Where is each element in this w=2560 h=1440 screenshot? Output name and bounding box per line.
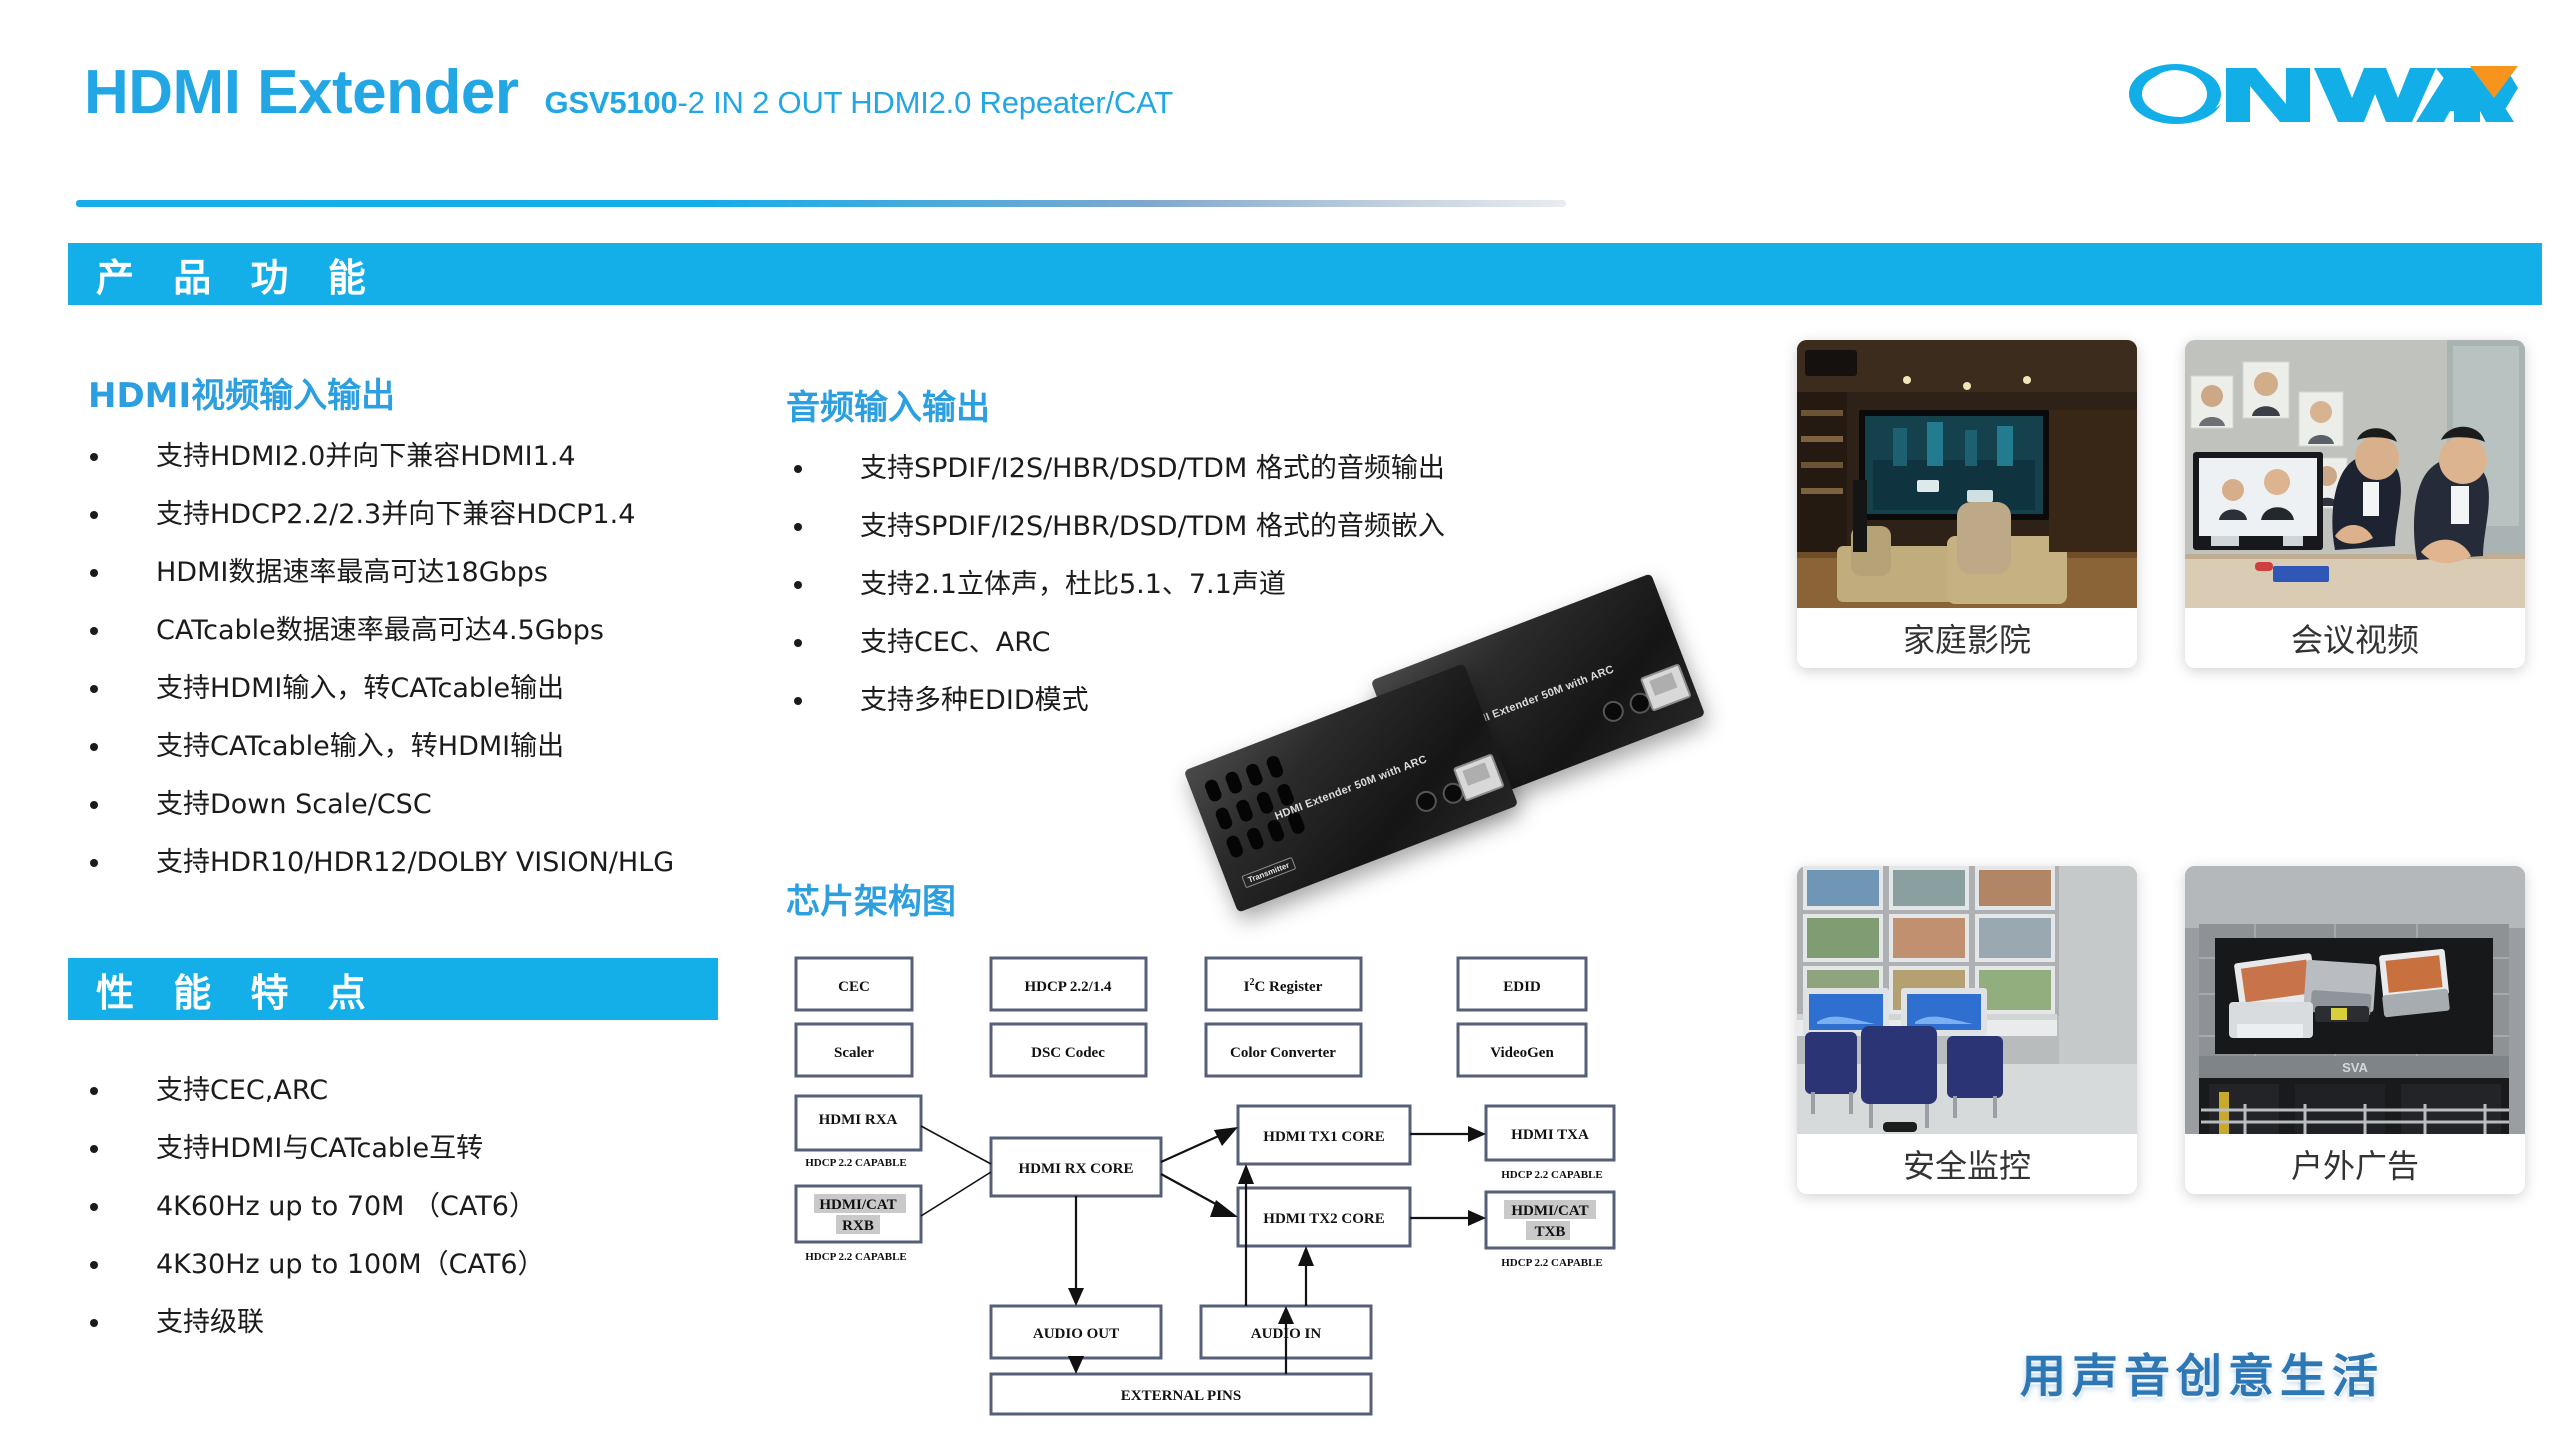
title-block: HDMI Extender GSV5100-2 IN 2 OUT HDMI2.0… xyxy=(84,62,1173,124)
page-header: HDMI Extender GSV5100-2 IN 2 OUT HDMI2.0… xyxy=(0,0,2560,210)
card-image xyxy=(2185,340,2525,608)
block-hdmi-cat-rxb-label-2: RXB xyxy=(842,1218,874,1234)
block-hdmi-cat-txb-label-2: TXB xyxy=(1535,1224,1566,1240)
list-item: 支持CEC,ARC xyxy=(68,1062,545,1120)
list-item: 支持2.1立体声，杜比5.1、7.1声道 xyxy=(772,556,1445,614)
onway-logo xyxy=(2118,56,2518,132)
card-image xyxy=(1797,866,2137,1134)
list-item: 支持HDMI2.0并向下兼容HDMI1.4 xyxy=(68,428,674,486)
product-photo: HDMI Extender 50M with ARC Receiver HDMI… xyxy=(1195,608,1695,898)
connector-tx1-to-txa xyxy=(1410,1126,1486,1142)
connector-rxcore-to-audioout xyxy=(1068,1196,1084,1306)
connector-tx2-to-txb xyxy=(1410,1210,1486,1226)
list-item: 支持CATcable输入，转HDMI输出 xyxy=(68,718,674,776)
card-image xyxy=(1797,340,2137,608)
scene-security-monitoring xyxy=(1797,866,2137,1134)
list-item: 支持HDMI与CATcable互转 xyxy=(68,1120,545,1178)
device-transmitter: HDMI Extender 50M with ARC Transmitter xyxy=(1184,663,1519,912)
block-hdmi-cat-txb-label-1: HDMI/CAT xyxy=(1511,1203,1588,1219)
block-scaler-label: Scaler xyxy=(834,1045,874,1061)
list-item: 支持HDMI输入，转CATcable输出 xyxy=(68,660,674,718)
block-edid-label: EDID xyxy=(1503,979,1541,995)
application-card-video-conference[interactable]: 会议视频 xyxy=(2185,340,2525,668)
card-caption: 家庭影院 xyxy=(1797,608,2137,668)
list-item: HDMI数据速率最高可达18Gbps xyxy=(68,544,674,602)
banner-product-features: 产 品 功 能 xyxy=(68,243,2542,305)
billboard-brand-text: SVA xyxy=(2342,1060,2368,1075)
connector-rxa-to-rxcore xyxy=(921,1126,991,1164)
application-card-outdoor-advertising[interactable]: SVA 户外广告 xyxy=(2185,866,2525,1194)
block-cec-label: CEC xyxy=(838,979,870,995)
line-audioout-pins xyxy=(1068,1356,1084,1374)
chip-architecture-diagram: CEC HDCP 2.2/1.4 I2C Register EDID Scale… xyxy=(786,948,1666,1418)
list-item: 支持SPDIF/I2S/HBR/DSD/TDM 格式的音频嵌入 xyxy=(772,498,1445,556)
list-item: CATcable数据速率最高可达4.5Gbps xyxy=(68,602,674,660)
block-dsc-codec-label: DSC Codec xyxy=(1031,1045,1105,1061)
product-description: -2 IN 2 OUT HDMI2.0 Repeater/CAT xyxy=(678,85,1174,120)
block-hdmi-tx2-core-label: HDMI TX2 CORE xyxy=(1263,1211,1384,1227)
scene-home-theater xyxy=(1797,340,2137,608)
list-item: 支持SPDIF/I2S/HBR/DSD/TDM 格式的音频输出 xyxy=(772,440,1445,498)
scene-outdoor-advertising: SVA xyxy=(2185,866,2525,1134)
connector-rxcore-to-tx2 xyxy=(1161,1174,1238,1217)
block-hdmi-rxa-label: HDMI RXA xyxy=(819,1112,898,1128)
application-card-security-monitoring[interactable]: 安全监控 xyxy=(1797,866,2137,1194)
list-video-features: 支持HDMI2.0并向下兼容HDMI1.4 支持HDCP2.2/2.3并向下兼容… xyxy=(68,428,674,892)
block-hdmi-tx1-core-label: HDMI TX1 CORE xyxy=(1263,1129,1384,1145)
card-caption: 会议视频 xyxy=(2185,608,2525,668)
heading-audio-io: 音频输入输出 xyxy=(786,380,990,429)
block-hdcp-label: HDCP 2.2/1.4 xyxy=(1024,979,1112,995)
banner-performance-features-label: 性 能 特 点 xyxy=(96,962,379,1017)
block-external-pins-label: EXTERNAL PINS xyxy=(1121,1388,1241,1404)
list-item: 支持Down Scale/CSC xyxy=(68,776,674,834)
banner-product-features-label: 产 品 功 能 xyxy=(96,247,379,302)
card-image: SVA xyxy=(2185,866,2525,1134)
header-divider xyxy=(76,200,1566,207)
list-item: 4K60Hz up to 70M （CAT6） xyxy=(68,1178,545,1236)
scene-video-conference xyxy=(2185,340,2525,608)
brand-watermark: 用声音创意生活 xyxy=(2020,1340,2384,1406)
connector-audioin-to-tx2 xyxy=(1298,1246,1314,1306)
list-performance-features: 支持CEC,ARC 支持HDMI与CATcable互转 4K60Hz up to… xyxy=(68,1062,545,1352)
card-caption: 安全监控 xyxy=(1797,1134,2137,1194)
block-videogen-label: VideoGen xyxy=(1490,1045,1554,1061)
caption-hdcp-capable: HDCP 2.2 CAPABLE xyxy=(805,1251,907,1263)
caption-hdcp-capable: HDCP 2.2 CAPABLE xyxy=(1501,1257,1603,1269)
block-color-converter-label: Color Converter xyxy=(1230,1045,1336,1061)
list-item: 4K30Hz up to 100M（CAT6） xyxy=(68,1236,545,1294)
block-i2c-register-label: I2C Register xyxy=(1244,977,1323,995)
list-item: 支持HDR10/HDR12/DOLBY VISION/HLG xyxy=(68,834,674,892)
heading-video-io: HDMI视频输入输出 xyxy=(88,368,395,417)
application-card-home-theater[interactable]: 家庭影院 xyxy=(1797,340,2137,668)
list-item: 支持级联 xyxy=(68,1294,545,1352)
card-caption: 户外广告 xyxy=(2185,1134,2525,1194)
page-subtitle: GSV5100-2 IN 2 OUT HDMI2.0 Repeater/CAT xyxy=(544,87,1173,118)
connector-rxb-to-rxcore xyxy=(921,1172,991,1216)
page-title: HDMI Extender xyxy=(84,62,518,124)
block-audio-out-label: AUDIO OUT xyxy=(1033,1326,1119,1342)
block-hdmi-txa-label: HDMI TXA xyxy=(1511,1127,1589,1143)
connector-rxcore-to-tx1 xyxy=(1161,1127,1238,1162)
product-model: GSV5100 xyxy=(544,85,677,120)
list-item: 支持HDCP2.2/2.3并向下兼容HDCP1.4 xyxy=(68,486,674,544)
caption-hdcp-capable: HDCP 2.2 CAPABLE xyxy=(1501,1169,1603,1181)
banner-performance-features: 性 能 特 点 xyxy=(68,958,718,1020)
heading-chip-architecture: 芯片架构图 xyxy=(786,874,956,923)
block-hdmi-cat-rxb-label-1: HDMI/CAT xyxy=(819,1197,896,1213)
caption-hdcp-capable: HDCP 2.2 CAPABLE xyxy=(805,1157,907,1169)
block-hdmi-rx-core-label: HDMI RX CORE xyxy=(1019,1161,1134,1177)
